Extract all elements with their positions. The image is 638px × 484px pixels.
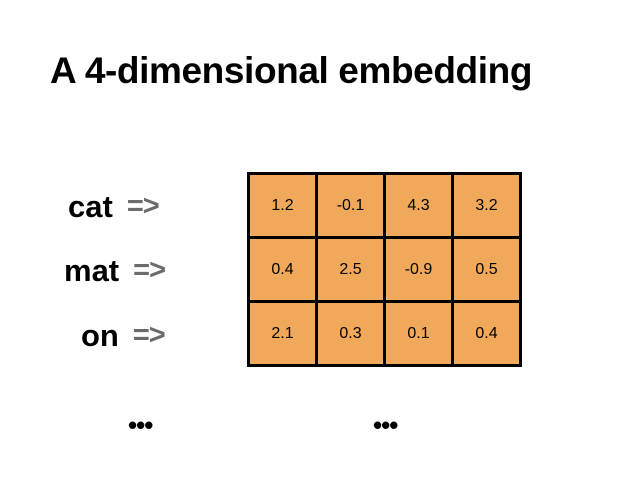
maps-to-arrow-icon: => — [133, 321, 165, 350]
matrix-cell: -0.1 — [317, 174, 385, 238]
embedding-row-mat: mat => — [64, 247, 165, 293]
matrix-cell: 0.1 — [385, 302, 453, 366]
embedding-matrix: 1.2 -0.1 4.3 3.2 0.4 2.5 -0.9 0.5 2.1 0.… — [247, 172, 522, 367]
matrix-cell: 3.2 — [453, 174, 521, 238]
word-label-on: on — [81, 320, 119, 351]
embedding-row-cat: cat => — [68, 183, 159, 229]
matrix-cell: 2.1 — [249, 302, 317, 366]
matrix-cell: -0.9 — [385, 238, 453, 302]
matrix-cell: 1.2 — [249, 174, 317, 238]
maps-to-arrow-icon: => — [133, 256, 165, 285]
maps-to-arrow-icon: => — [127, 192, 159, 221]
word-label-cat: cat — [68, 191, 113, 222]
matrix-cell: 4.3 — [385, 174, 453, 238]
table-row: 0.4 2.5 -0.9 0.5 — [249, 238, 521, 302]
matrix-cell: 0.5 — [453, 238, 521, 302]
word-label-mat: mat — [64, 255, 119, 286]
matrix-cell: 0.4 — [453, 302, 521, 366]
table-row: 2.1 0.3 0.1 0.4 — [249, 302, 521, 366]
matrix-cell: 0.3 — [317, 302, 385, 366]
matrix-cell: 0.4 — [249, 238, 317, 302]
ellipsis-matrix: ••• — [373, 412, 397, 438]
ellipsis-words: ••• — [128, 412, 152, 438]
table-row: 1.2 -0.1 4.3 3.2 — [249, 174, 521, 238]
matrix-cell: 2.5 — [317, 238, 385, 302]
embedding-row-on: on => — [81, 312, 165, 358]
page-title: A 4-dimensional embedding — [50, 48, 610, 94]
slide-canvas: A 4-dimensional embedding cat => mat => … — [0, 0, 638, 484]
